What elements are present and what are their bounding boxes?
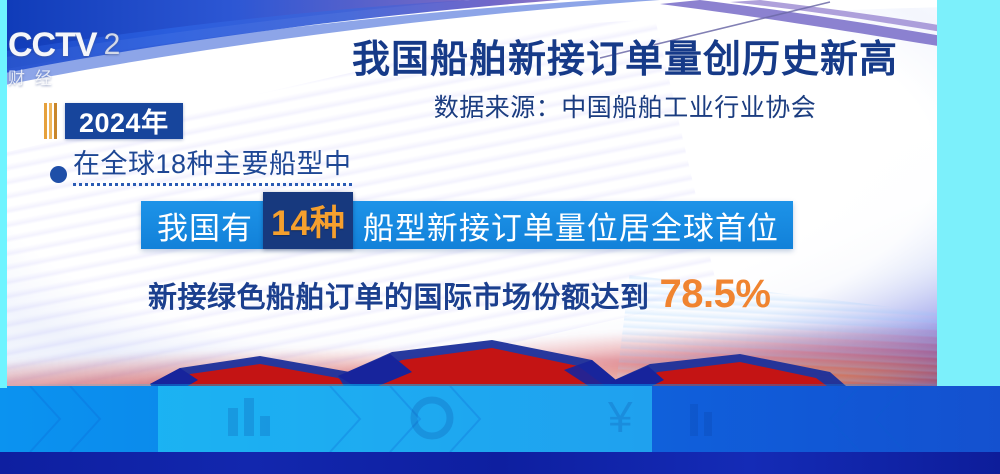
bullet-line-text: 在全球18种主要船型中 [73,142,352,186]
banner-tail-text: 船型新接订单量位居全球首位 [353,201,793,249]
bottom-band-left-panel [0,386,158,452]
broadcast-graphic-screen: ¥ CCTV 2 财经 我国船舶新接订单量创历史新高 数据来源：中国船舶工业行业… [0,0,1000,474]
left-cyan-edge [0,0,7,388]
highlight-banner: 我国有 14种 船型新接订单量位居全球首位 [141,201,793,249]
bottom-band-cyan-overlay [158,386,652,452]
banner-lead-text: 我国有 [141,201,263,249]
bullet-line: 在全球18种主要船型中 [50,142,352,186]
year-badge: 2024年 [65,103,183,139]
bottom-dark-strip [0,452,1000,474]
page-title: 我国船舶新接订单量创历史新高 [325,28,925,83]
gold-bars-decoration [44,103,57,139]
statement-value: 78.5% [660,272,771,317]
data-source-label: 数据来源：中国船舶工业行业协会 [325,88,925,124]
banner-highlight-value: 14种 [263,192,353,249]
statement-line: 新接绿色船舶订单的国际市场份额达到 78.5% [148,272,770,317]
bullet-dot-icon [50,166,67,183]
statement-text: 新接绿色船舶订单的国际市场份额达到 [148,274,650,316]
right-cyan-panel [937,0,1000,386]
year-badge-group: 2024年 [44,103,183,139]
